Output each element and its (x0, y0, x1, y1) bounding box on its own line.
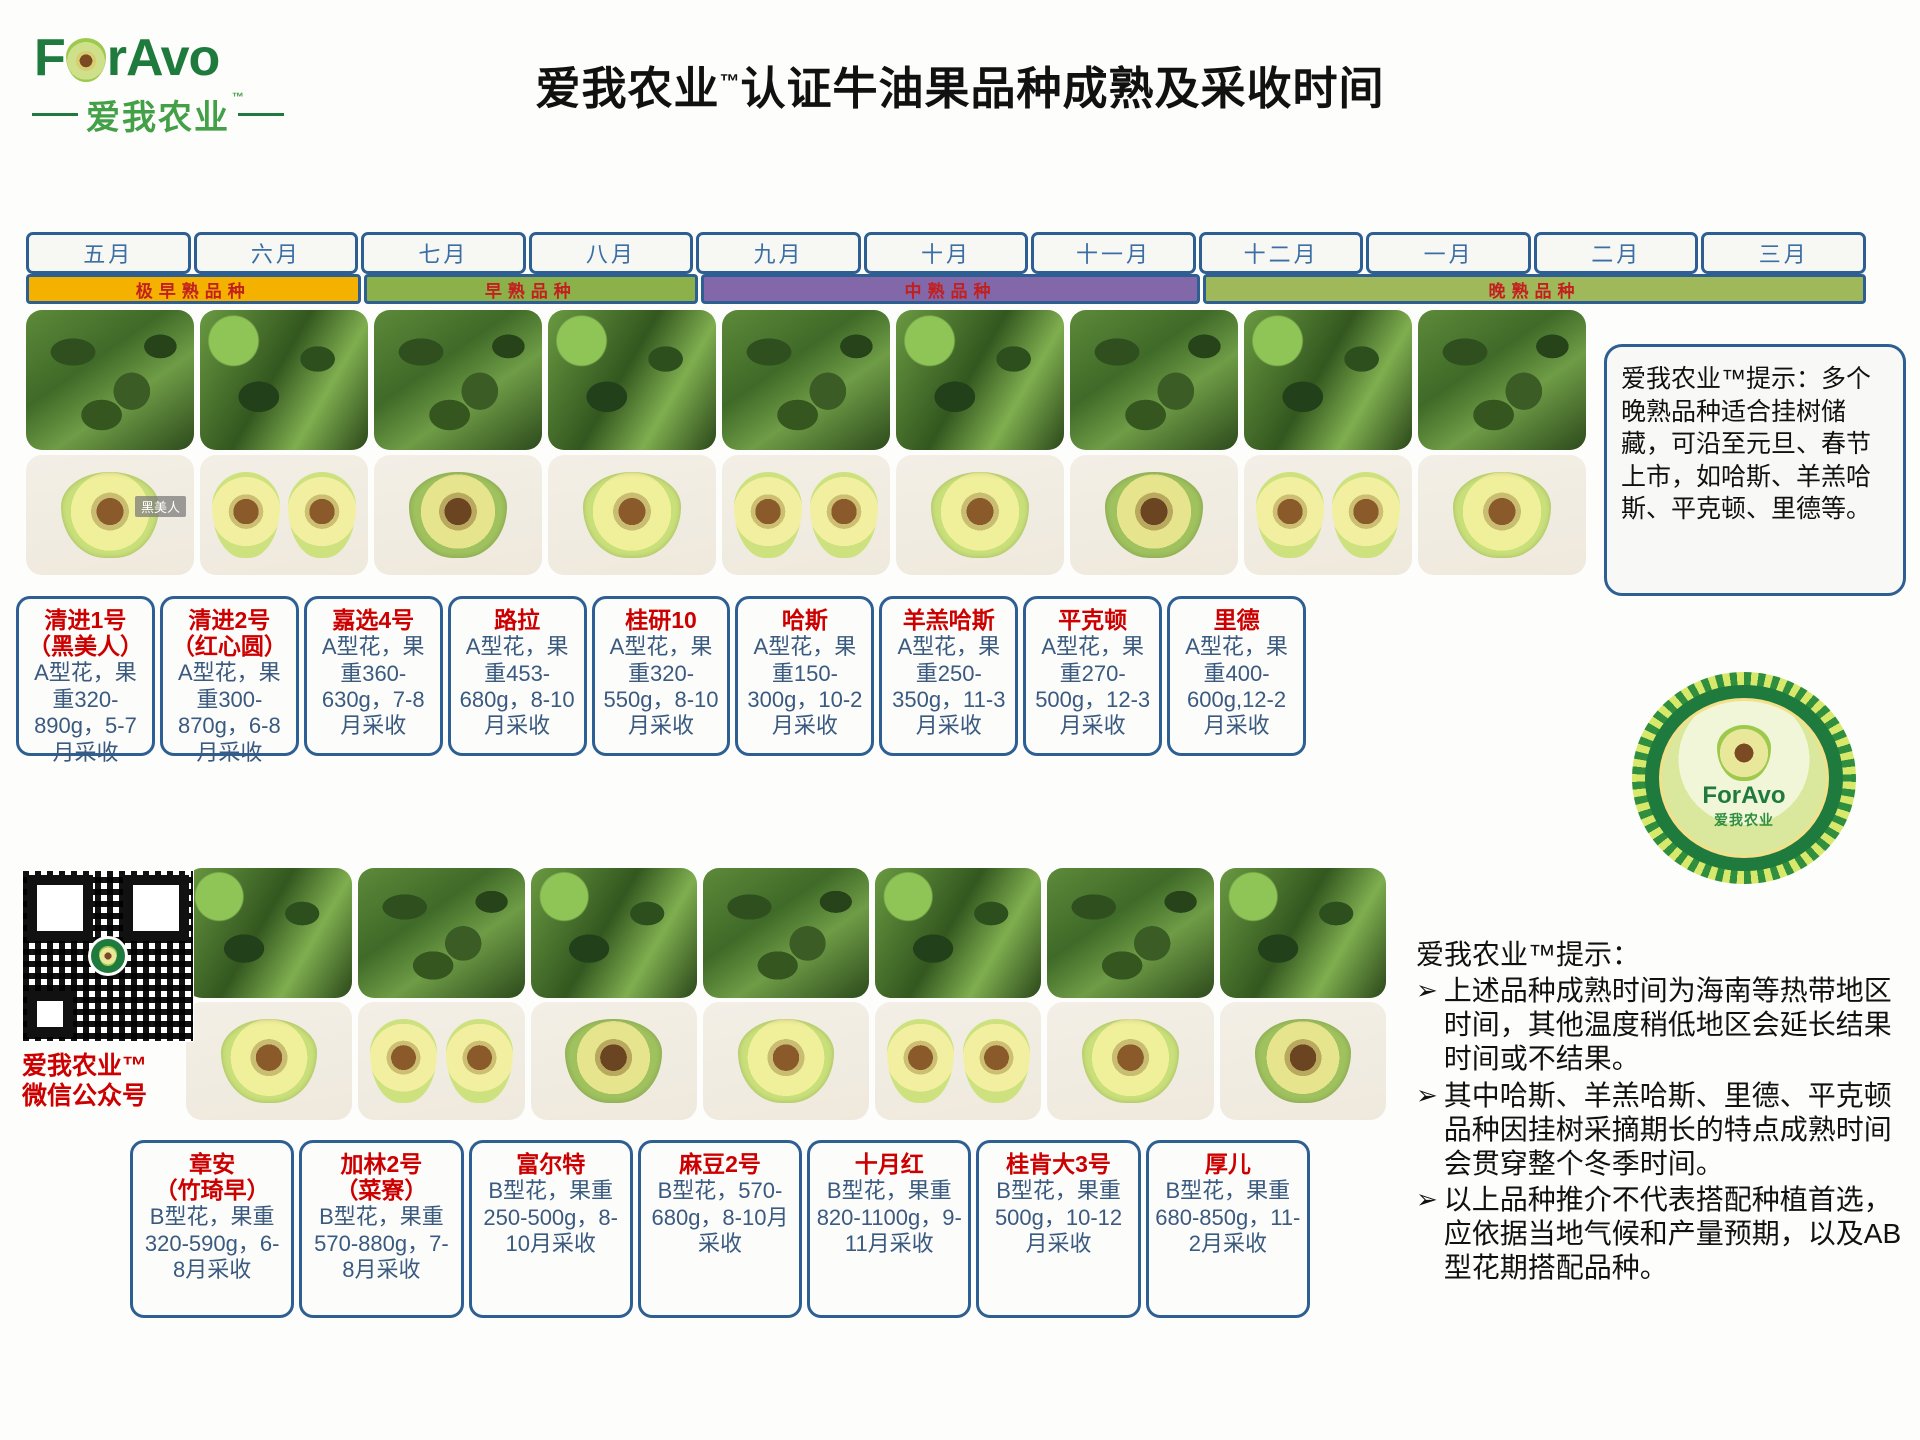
row1-fruit-item: 黑美人 (26, 455, 194, 575)
row1-tree-photo-strip (26, 310, 1586, 450)
avocado-halves-icon (734, 472, 878, 558)
avocado-half-icon (1082, 1019, 1178, 1104)
avocado-half-icon (1255, 1019, 1351, 1104)
variety-name: 哈斯 (744, 607, 865, 633)
variety-description: B型花，果重570-880g，7-8月采收 (308, 1204, 454, 1283)
variety-description: A型花，果重250-350g，11-3月采收 (888, 634, 1009, 740)
page-title: 爱我农业™认证牛油果品种成熟及采收时间 (340, 52, 1580, 117)
month-header-row: 五月六月七月八月九月十月十一月十二月一月二月三月 (26, 232, 1866, 274)
season-band-1: 极早熟品种 (26, 274, 361, 304)
month-cell-8: 十二月 (1199, 232, 1364, 274)
seal-outer-ring: ForAvo 爱我农业 (1632, 672, 1856, 884)
note-item-1: ➢上述品种成熟时间为海南等热带地区时间，其他温度稍低地区会延长结果时间或不结果。 (1416, 974, 1916, 1076)
variety-description: A型花，果重453-680g，8-10月采收 (457, 634, 578, 740)
note-item-3: ➢以上品种推介不代表搭配种植首选，应依据当地气候和产量预期，以及AB型花期搭配品… (1416, 1183, 1916, 1285)
title-brand: 爱我农业 (535, 63, 719, 114)
row2-trees-item (531, 868, 697, 998)
notes-list: ➢上述品种成熟时间为海南等热带地区时间，其他温度稍低地区会延长结果时间或不结果。… (1416, 974, 1916, 1285)
avocado-half-icon (565, 1019, 661, 1104)
row1-trees-item (26, 310, 194, 450)
row2-trees-item (1220, 868, 1386, 998)
logo-wordmark: FrAvo (26, 32, 296, 84)
variety-name: 厚儿 (1155, 1151, 1301, 1177)
note-bullet-icon: ➢ (1416, 974, 1438, 1076)
row1-fruit-photo-strip: 黑美人 (26, 455, 1586, 575)
row1-variety-card-3[interactable]: 嘉选4号A型花，果重360-630g，7-8月采收 (304, 596, 443, 756)
row2-trees-item (186, 868, 352, 998)
row1-variety-card-4[interactable]: 路拉A型花，果重453-680g，8-10月采收 (448, 596, 587, 756)
month-cell-1: 五月 (26, 232, 191, 274)
row2-fruit-photo-strip (186, 1002, 1386, 1120)
variety-name: 十月红 (816, 1151, 962, 1177)
variety-alias: （菜寮） (308, 1177, 454, 1203)
note-text: 以上品种推介不代表搭配种植首选，应依据当地气候和产量预期，以及AB型花期搭配品种… (1444, 1183, 1916, 1285)
row2-variety-card-5[interactable]: 十月红B型花，果重820-1100g，9-11月采收 (807, 1140, 971, 1318)
row2-fruit-item (875, 1002, 1041, 1120)
row2-fruit-item (703, 1002, 869, 1120)
month-cell-10: 二月 (1534, 232, 1699, 274)
row2-variety-card-4[interactable]: 麻豆2号B型花，570-680g，8-10月采收 (638, 1140, 802, 1318)
avocado-half-icon (583, 472, 680, 558)
qr-caption: 爱我农业™ 微信公众号 (22, 1052, 194, 1111)
qr-finder-bottom-left (27, 991, 73, 1037)
season-band-4: 晚熟品种 (1203, 274, 1866, 304)
variety-alias: （红心圆） (169, 633, 290, 659)
avocado-halves-icon (212, 472, 356, 558)
row1-fruit-item (1418, 455, 1586, 575)
avocado-o-icon (66, 38, 106, 82)
row1-fruit-item (374, 455, 542, 575)
row1-variety-card-7[interactable]: 羊羔哈斯A型花，果重250-350g，11-3月采收 (879, 596, 1018, 756)
qr-caption-line1: 爱我农业™ (22, 1052, 194, 1082)
avocado-half-icon (409, 472, 506, 558)
variety-description: A型花，果重300-870g，6-8月采收 (169, 660, 290, 766)
variety-name: 桂肯大3号 (985, 1151, 1131, 1177)
logo-word-ravo: rAvo (107, 29, 220, 87)
variety-description: B型花，果重250-500g，8-10月采收 (478, 1178, 624, 1257)
row1-variety-card-9[interactable]: 里德A型花，果重400-600g,12-2月采收 (1167, 596, 1306, 756)
row2-variety-card-1[interactable]: 章安（竹琦早）B型花，果重320-590g，6-8月采收 (130, 1140, 294, 1318)
footer-notes: 爱我农业™提示： ➢上述品种成熟时间为海南等热带地区时间，其他温度稍低地区会延长… (1416, 938, 1916, 1286)
note-text: 其中哈斯、羊羔哈斯、里德、平克顿品种因挂树采摘期长的特点成熟时间会贯穿整个冬季时… (1444, 1079, 1916, 1181)
variety-alias: （竹琦早） (139, 1177, 285, 1203)
avocado-half-icon (221, 1019, 317, 1104)
row2-variety-card-6[interactable]: 桂肯大3号B型花，果重500g，10-12月采收 (976, 1140, 1140, 1318)
variety-name: 清进1号 (25, 607, 146, 633)
note-bullet-icon: ➢ (1416, 1079, 1438, 1181)
logo-tm: ™ (232, 90, 246, 104)
avocado-icon (1717, 725, 1771, 781)
wechat-qr-block[interactable]: 爱我农业™ 微信公众号 (22, 870, 194, 1111)
variety-description: B型花，果重320-590g，6-8月采收 (139, 1204, 285, 1283)
variety-description: B型花，果重500g，10-12月采收 (985, 1178, 1131, 1257)
avocado-half-icon (1453, 472, 1550, 558)
row2-trees-item (875, 868, 1041, 998)
seal-wordmark: ForAvo (1702, 784, 1785, 808)
row1-variety-card-8[interactable]: 平克顿A型花，果重270-500g，12-3月采收 (1023, 596, 1162, 756)
foravo-logo: FrAvo 爱我农业™ (26, 32, 296, 142)
row1-variety-card-5[interactable]: 桂研10A型花，果重320-550g，8-10月采收 (592, 596, 731, 756)
notes-title: 爱我农业™提示： (1416, 938, 1916, 972)
avocado-halves-icon (1256, 472, 1400, 558)
logo-chinese-text: 爱我农业™ (86, 90, 230, 139)
variety-description: B型花，果重820-1100g，9-11月采收 (816, 1178, 962, 1257)
variety-description: B型花，果重680-850g，11-2月采收 (1155, 1178, 1301, 1257)
variety-name: 麻豆2号 (647, 1151, 793, 1177)
logo-chinese-row: 爱我农业™ (26, 90, 296, 139)
row2-trees-item (358, 868, 524, 998)
row1-fruit-item (200, 455, 368, 575)
row1-trees-item (722, 310, 890, 450)
variety-name: 羊羔哈斯 (888, 607, 1009, 633)
month-cell-7: 十一月 (1031, 232, 1196, 274)
variety-description: A型花，果重360-630g，7-8月采收 (313, 634, 434, 740)
title-tm: ™ (720, 71, 741, 93)
row2-trees-item (1047, 868, 1213, 998)
row1-trees-item (548, 310, 716, 450)
qr-center-logo (88, 936, 128, 976)
variety-name: 加林2号 (308, 1151, 454, 1177)
row1-variety-card-6[interactable]: 哈斯A型花，果重150-300g，10-2月采收 (735, 596, 874, 756)
row2-trees-item (703, 868, 869, 998)
variety-description: A型花，果重270-500g，12-3月采收 (1032, 634, 1153, 740)
variety-name: 路拉 (457, 607, 578, 633)
row1-trees-item (896, 310, 1064, 450)
row2-fruit-item (358, 1002, 524, 1120)
row2-variety-card-3[interactable]: 富尔特B型花，果重250-500g，8-10月采收 (469, 1140, 633, 1318)
season-band-row: 极早熟品种早熟品种中熟品种晚熟品种 (26, 274, 1866, 304)
qr-caption-line2: 微信公众号 (22, 1082, 194, 1112)
avocado-halves-icon (370, 1019, 513, 1104)
row1-fruit-item (896, 455, 1064, 575)
row2-variety-cards: 章安（竹琦早）B型花，果重320-590g，6-8月采收加林2号（菜寮）B型花，… (130, 1140, 1310, 1318)
variety-name: 里德 (1176, 607, 1297, 633)
title-rest: 认证牛油果品种成熟及采收时间 (741, 63, 1385, 114)
season-band-3: 中熟品种 (701, 274, 1200, 304)
infographic-page: FrAvo 爱我农业™ 爱我农业™认证牛油果品种成熟及采收时间 五月六月七月八月… (0, 0, 1920, 1440)
row2-fruit-item (186, 1002, 352, 1120)
avocado-halves-icon (887, 1019, 1030, 1104)
avocado-half-icon (1105, 472, 1202, 558)
month-cell-4: 八月 (529, 232, 694, 274)
foravo-certification-seal: ForAvo 爱我农业 (1632, 672, 1856, 884)
logo-word-f: F (34, 29, 65, 87)
tip-box-late-varieties: 爱我农业™提示：多个晚熟品种适合挂树储藏，可沿至元旦、春节上市，如哈斯、羊羔哈斯… (1604, 344, 1906, 596)
note-bullet-icon: ➢ (1416, 1183, 1438, 1285)
month-cell-3: 七月 (361, 232, 526, 274)
variety-description: B型花，570-680g，8-10月采收 (647, 1178, 793, 1257)
variety-description: A型花，果重320-550g，8-10月采收 (601, 634, 722, 740)
variety-description: A型花，果重400-600g,12-2月采收 (1176, 634, 1297, 740)
photo-tag: 黑美人 (135, 496, 186, 517)
logo-rule-left (32, 113, 78, 116)
variety-name: 嘉选4号 (313, 607, 434, 633)
row2-fruit-item (1047, 1002, 1213, 1120)
row1-trees-item (1070, 310, 1238, 450)
qr-avocado-icon (99, 946, 117, 966)
variety-alias: （黑美人） (25, 633, 146, 659)
variety-description: A型花，果重150-300g，10-2月采收 (744, 634, 865, 740)
row2-variety-card-7[interactable]: 厚儿B型花，果重680-850g，11-2月采收 (1146, 1140, 1310, 1318)
qr-code-icon[interactable] (22, 870, 194, 1042)
month-cell-9: 一月 (1366, 232, 1531, 274)
variety-name: 章安 (139, 1151, 285, 1177)
month-cell-5: 九月 (696, 232, 861, 274)
row1-trees-item (1244, 310, 1412, 450)
row1-variety-cards: 清进1号（黑美人）A型花，果重320-890g，5-7月采收清进2号（红心圆）A… (16, 596, 1306, 756)
seal-inner-disc: ForAvo 爱我农业 (1659, 698, 1829, 858)
row2-tree-photo-strip (186, 868, 1386, 998)
row1-fruit-item (548, 455, 716, 575)
row2-variety-card-2[interactable]: 加林2号（菜寮）B型花，果重570-880g，7-8月采收 (299, 1140, 463, 1318)
season-band-2: 早熟品种 (364, 274, 699, 304)
row1-fruit-item (1070, 455, 1238, 575)
avocado-half-icon (931, 472, 1028, 558)
row1-trees-item (200, 310, 368, 450)
variety-name: 平克顿 (1032, 607, 1153, 633)
row1-fruit-item (1244, 455, 1412, 575)
month-cell-11: 三月 (1701, 232, 1866, 274)
avocado-half-icon (738, 1019, 834, 1104)
row1-trees-item (1418, 310, 1586, 450)
variety-description: A型花，果重320-890g，5-7月采收 (25, 660, 146, 766)
month-cell-6: 十月 (864, 232, 1029, 274)
seal-chinese-label: 爱我农业 (1714, 810, 1774, 830)
row1-trees-item (374, 310, 542, 450)
logo-rule-right (238, 113, 284, 116)
row2-fruit-item (1220, 1002, 1386, 1120)
note-text: 上述品种成熟时间为海南等热带地区时间，其他温度稍低地区会延长结果时间或不结果。 (1444, 974, 1916, 1076)
variety-name: 清进2号 (169, 607, 290, 633)
note-item-2: ➢其中哈斯、羊羔哈斯、里德、平克顿品种因挂树采摘期长的特点成熟时间会贯穿整个冬季… (1416, 1079, 1916, 1181)
row1-fruit-item (722, 455, 890, 575)
variety-name: 富尔特 (478, 1151, 624, 1177)
logo-chinese-label: 爱我农业 (86, 99, 230, 137)
row2-fruit-item (531, 1002, 697, 1120)
row1-variety-card-1[interactable]: 清进1号（黑美人）A型花，果重320-890g，5-7月采收 (16, 596, 155, 756)
month-cell-2: 六月 (194, 232, 359, 274)
seal-mid-ring: ForAvo 爱我农业 (1645, 685, 1842, 872)
row1-variety-card-2[interactable]: 清进2号（红心圆）A型花，果重300-870g，6-8月采收 (160, 596, 299, 756)
variety-name: 桂研10 (601, 607, 722, 633)
